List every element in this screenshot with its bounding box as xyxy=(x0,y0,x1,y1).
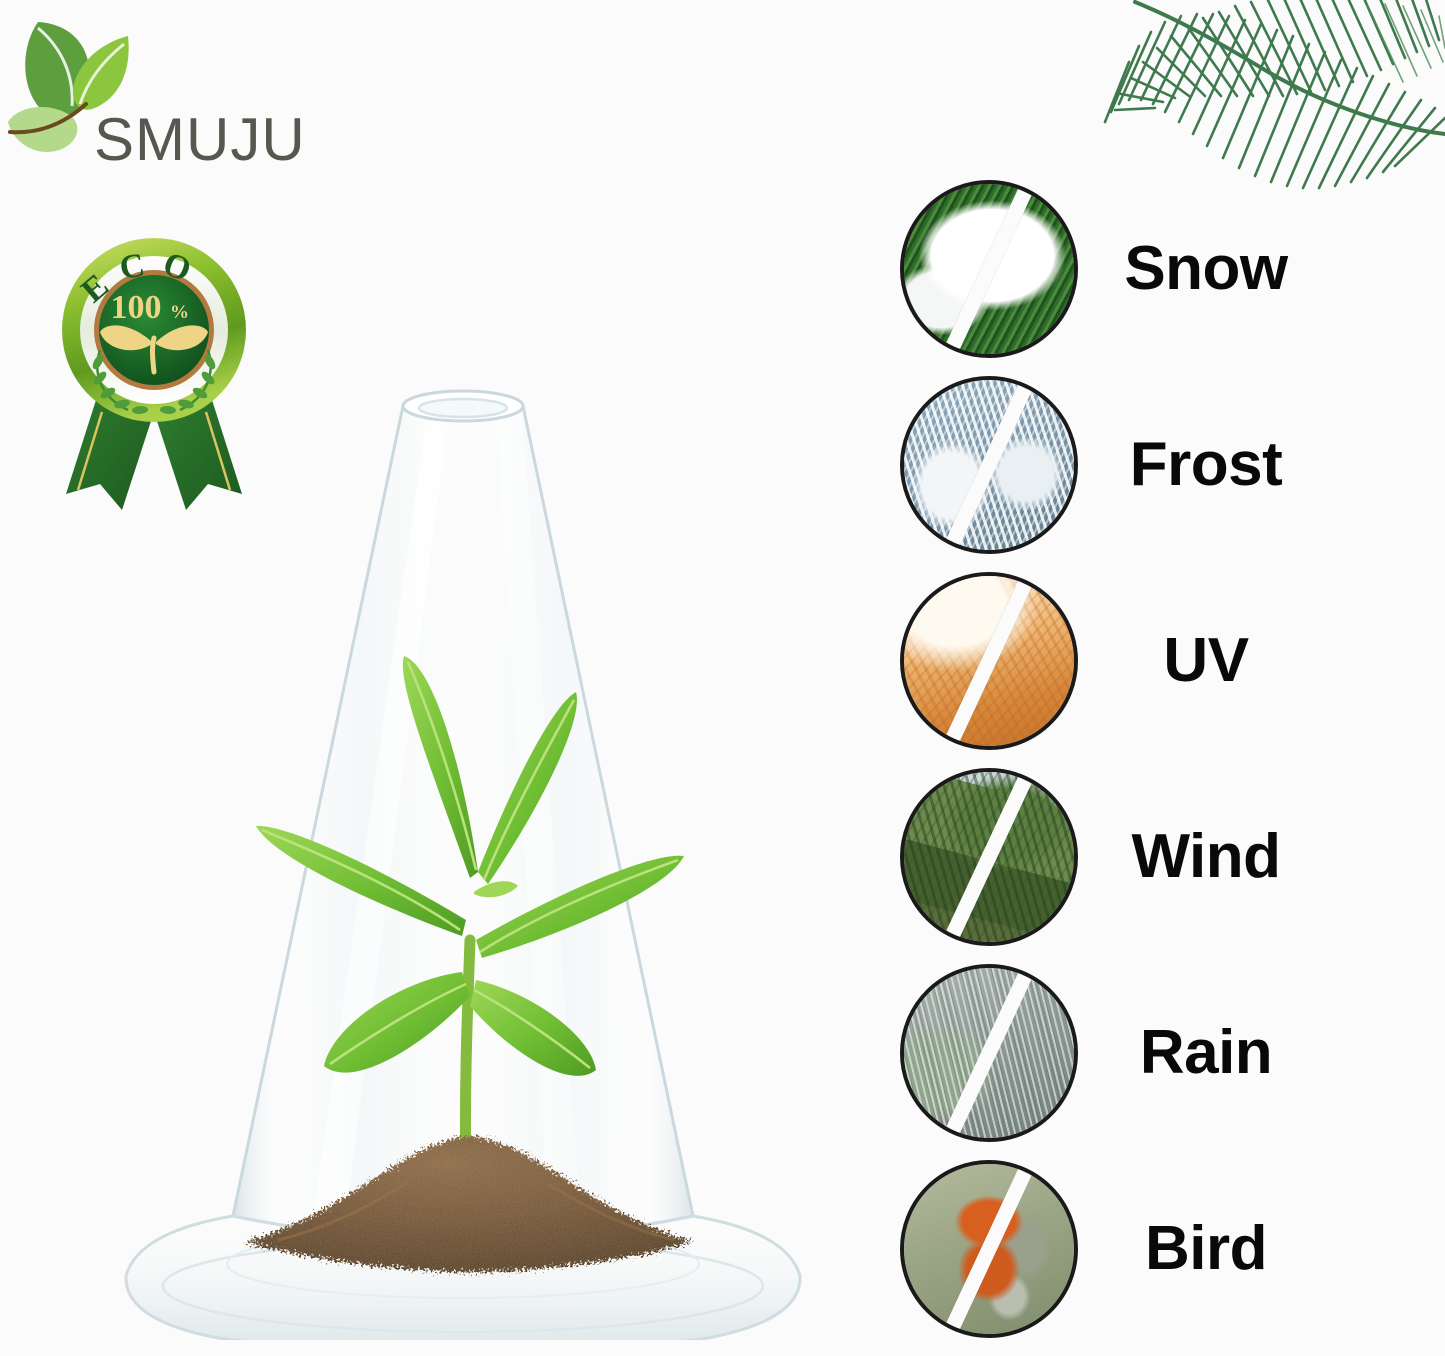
feature-row[interactable]: Rain xyxy=(900,962,1320,1144)
feature-row[interactable]: Frost xyxy=(900,374,1320,556)
feature-label: Rain xyxy=(1078,1022,1320,1084)
feature-row[interactable]: UV xyxy=(900,570,1320,752)
bird-icon xyxy=(900,1160,1078,1338)
feature-label: Snow xyxy=(1078,238,1320,300)
brand-name: SMUJU xyxy=(94,110,306,170)
feature-label: Frost xyxy=(1078,434,1320,496)
feature-row[interactable]: Bird xyxy=(900,1158,1320,1340)
feature-label: UV xyxy=(1078,630,1320,692)
frost-icon xyxy=(900,376,1078,554)
protection-feature-list: Snow Frost UV Wind xyxy=(900,178,1320,1353)
wind-icon xyxy=(900,768,1078,946)
feature-label: Bird xyxy=(1078,1218,1320,1280)
snow-icon xyxy=(900,180,1078,358)
brand-logo: SMUJU xyxy=(8,14,368,174)
uv-icon xyxy=(900,572,1078,750)
palm-frond-decoration xyxy=(1095,0,1445,201)
eco-badge-percent-value: 100 xyxy=(111,289,162,326)
plant-cloche-product-photo xyxy=(78,380,848,1340)
rain-icon xyxy=(900,964,1078,1142)
feature-label: Wind xyxy=(1078,826,1320,888)
feature-row[interactable]: Wind xyxy=(900,766,1320,948)
feature-row[interactable]: Snow xyxy=(900,178,1320,360)
product-marketing-image: SMUJU xyxy=(0,0,1445,1356)
eco-badge-percent-symbol: % xyxy=(170,302,189,323)
